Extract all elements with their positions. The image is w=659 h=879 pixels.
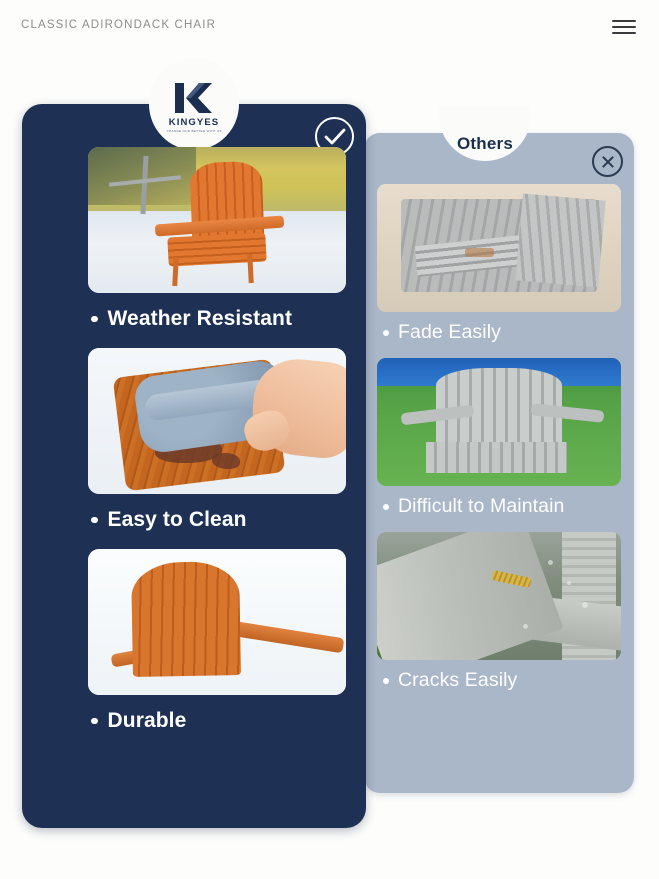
list-item: Cracks Easily [364, 532, 634, 692]
feature-text: Easy to Clean [108, 508, 247, 532]
others-drawback-list: Fade Easily Difficult to Mai [364, 184, 634, 706]
brand-name: KINGYES [169, 117, 219, 128]
drawback-label: Cracks Easily [377, 669, 621, 692]
hamburger-menu-icon[interactable] [612, 19, 636, 35]
feature-label: Durable [91, 709, 299, 733]
bullet-icon [91, 316, 98, 323]
others-tab-label: Others [439, 105, 531, 161]
faded-gray-chair-on-sand-photo [377, 184, 621, 312]
hand-wiping-armrest-with-cloth-photo [88, 348, 346, 494]
top-bar: CLASSIC ADIRONDACK CHAIR [0, 0, 659, 52]
feature-label: Weather Resistant [91, 307, 299, 331]
list-item: Easy to Clean [22, 348, 366, 532]
feature-label: Easy to Clean [91, 508, 299, 532]
page-title: CLASSIC ADIRONDACK CHAIR [21, 19, 216, 31]
cracked-wet-wood-with-screw-photo [377, 532, 621, 660]
drawback-text: Cracks Easily [398, 669, 517, 692]
list-item: Difficult to Maintain [364, 358, 634, 518]
others-title: Others [457, 134, 513, 154]
product-comparison-page: CLASSIC ADIRONDACK CHAIR Others [0, 0, 659, 879]
menu-line-3 [612, 32, 636, 34]
list-item: Fade Easily [364, 184, 634, 344]
bullet-icon [383, 330, 389, 336]
kingyes-feature-panel: KINGYES CHANGE OUR BETTER WITH US [22, 104, 366, 828]
close-circle-icon[interactable] [592, 146, 623, 177]
bullet-icon [91, 718, 98, 725]
list-item: Durable [22, 549, 366, 733]
kingyes-feature-list: Weather Resistant [22, 147, 366, 750]
orange-chair-fan-back-closeup-photo [88, 549, 346, 695]
others-comparison-panel: Others Fade Easily [364, 133, 634, 793]
brand-logo-tab: KINGYES CHANGE OUR BETTER WITH US [149, 58, 239, 150]
feature-text: Durable [108, 709, 187, 733]
list-item: Weather Resistant [22, 147, 366, 331]
drawback-text: Difficult to Maintain [398, 495, 564, 518]
bullet-icon [383, 678, 389, 684]
feature-text: Weather Resistant [108, 307, 293, 331]
drawback-text: Fade Easily [398, 321, 501, 344]
check-mark-icon [324, 127, 346, 147]
drawback-label: Fade Easily [377, 321, 621, 344]
brand-tagline: CHANGE OUR BETTER WITH US [166, 129, 221, 133]
orange-adirondack-chair-in-snow-photo [88, 147, 346, 293]
kingyes-k-mark-icon [172, 81, 216, 115]
menu-line-1 [612, 20, 636, 22]
bullet-icon [91, 517, 98, 524]
weathered-gray-chair-on-grass-photo [377, 358, 621, 486]
drawback-label: Difficult to Maintain [377, 495, 621, 518]
menu-line-2 [612, 26, 636, 28]
bullet-icon [383, 504, 389, 510]
